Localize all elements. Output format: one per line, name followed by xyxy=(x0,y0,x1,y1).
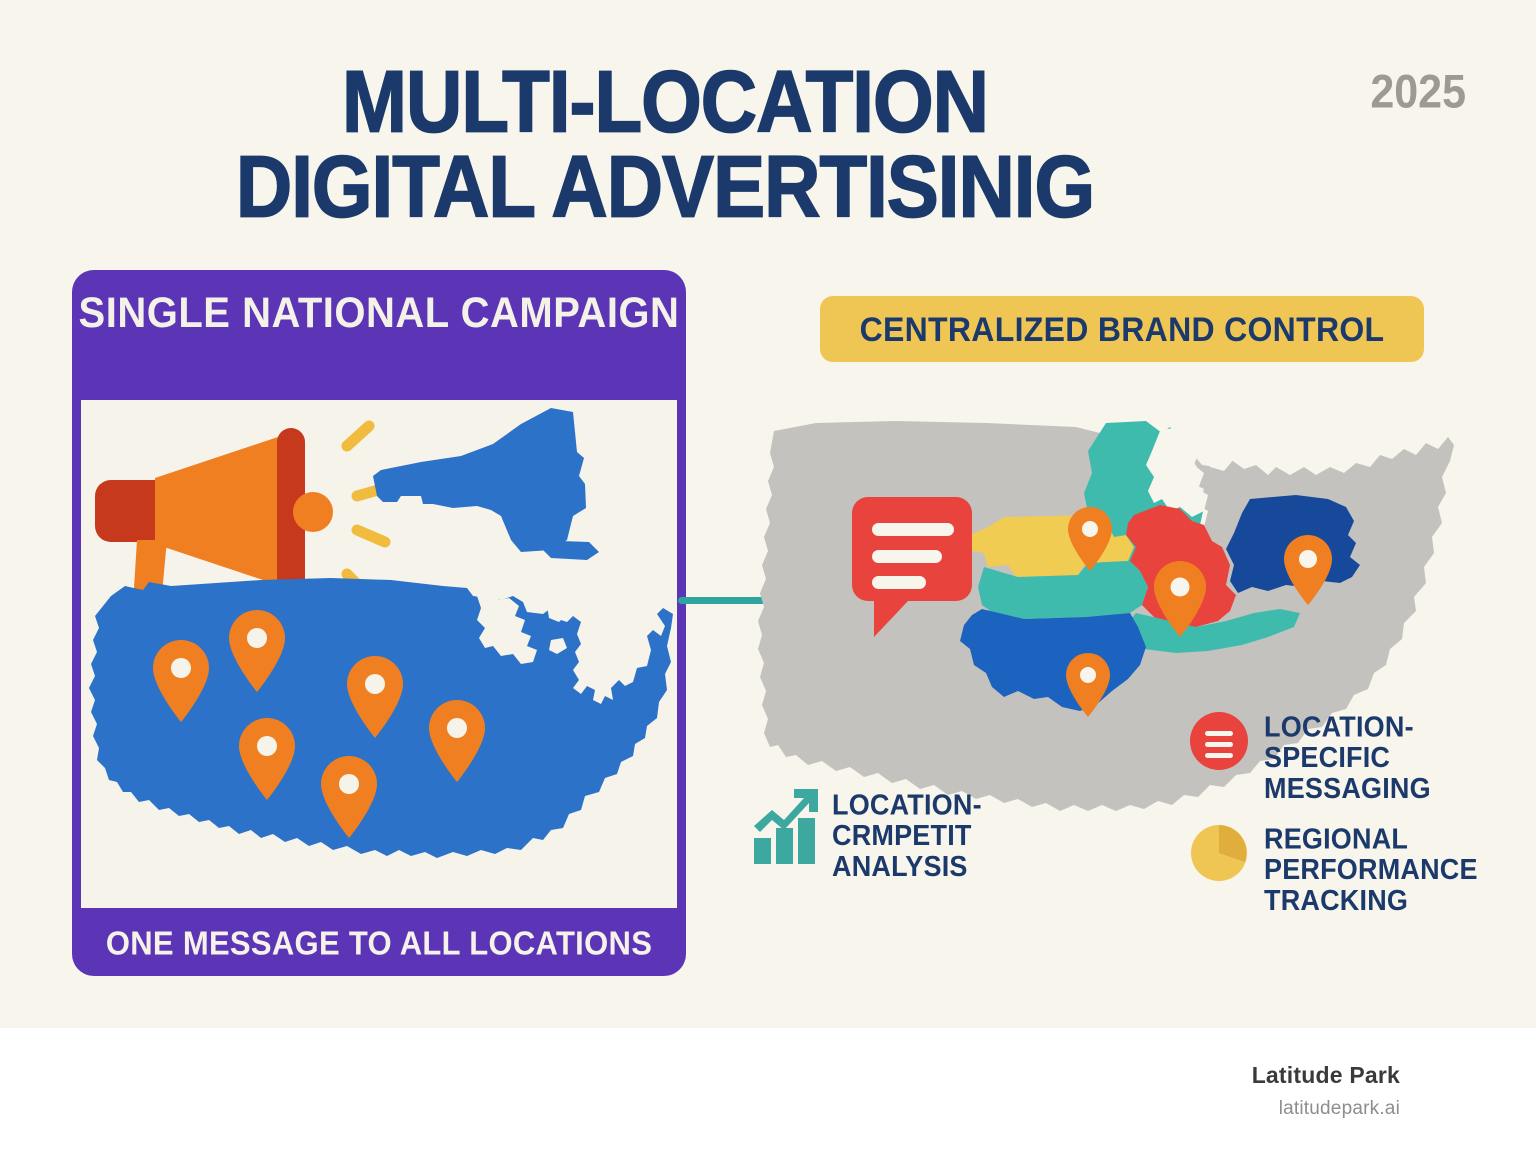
page-title: MULTI-LOCATION DIGITAL ADVERTISINIG xyxy=(0,60,1330,220)
legend-label: REGIONAL PERFORMANCE TRACKING xyxy=(1264,824,1478,916)
legend-item-competitive-analysis: LOCATION- CRMPETIT ANALYSIS xyxy=(752,786,982,877)
legend-item-location-specific-messaging: LOCATION- SPECIFIC MESSAGING xyxy=(1190,712,1431,799)
footer-bar: Latitude Park latitudepark.ai xyxy=(0,1028,1536,1154)
footer-url: latitudepark.ai xyxy=(1279,1098,1400,1120)
title-line-1: MULTI-LOCATION xyxy=(0,60,1330,144)
footer-brand-name: Latitude Park xyxy=(1252,1062,1400,1089)
sound-rays-icon xyxy=(347,426,385,596)
us-map-blue xyxy=(81,578,677,908)
title-line-2: DIGITAL ADVERTISINIG xyxy=(0,145,1330,229)
main-stage: MULTI-LOCATION DIGITAL ADVERTISINIG 2025… xyxy=(0,0,1536,1028)
legend-item-regional-performance-tracking: REGIONAL PERFORMANCE TRACKING xyxy=(1190,824,1478,911)
message-lines-circle-icon xyxy=(1190,712,1248,775)
single-national-campaign-card: SINGLE NATIONAL CAMPAIGN xyxy=(72,270,686,976)
left-map-illustration xyxy=(81,400,677,908)
left-card-illustration xyxy=(81,400,677,908)
bar-chart-growth-icon xyxy=(752,786,822,871)
left-card-footer-label: ONE MESSAGE TO ALL LOCATIONS xyxy=(72,925,686,964)
infographic-canvas: MULTI-LOCATION DIGITAL ADVERTISINIG 2025… xyxy=(0,0,1536,1154)
centralized-brand-control-banner: CENTRALIZED BRAND CONTROL xyxy=(820,296,1424,362)
legend-label: LOCATION- SPECIFIC MESSAGING xyxy=(1264,712,1431,804)
banner-label: CENTRALIZED BRAND CONTROL xyxy=(860,309,1385,349)
new-england-state-shape xyxy=(373,408,599,560)
left-card-title: SINGLE NATIONAL CAMPAIGN xyxy=(72,291,686,336)
legend-label: LOCATION- CRMPETIT ANALYSIS xyxy=(832,790,982,882)
pie-chart-icon xyxy=(1190,824,1248,887)
year-label: 2025 xyxy=(1370,66,1466,120)
